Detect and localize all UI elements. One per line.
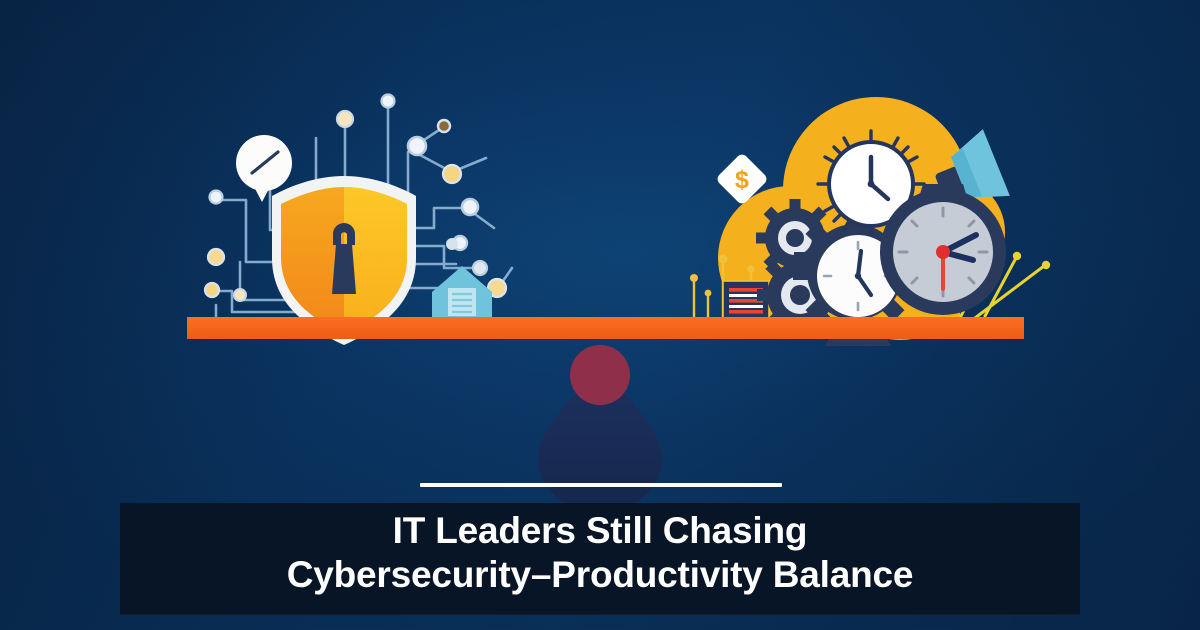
svg-text:$: $ [735,166,749,194]
productivity-cluster: $ [690,97,1050,346]
balance-beam [187,317,1024,339]
fulcrum-pivot-ball [570,345,630,405]
headline-divider [420,483,782,487]
headline-banner: IT Leaders Still Chasing Cybersecurity–P… [120,503,1080,615]
headline-line-1: IT Leaders Still Chasing [393,509,808,553]
promo-graphic: $ [0,0,1200,630]
headline-line-2: Cybersecurity–Productivity Balance [287,553,914,597]
cybersecurity-cluster [205,95,512,346]
